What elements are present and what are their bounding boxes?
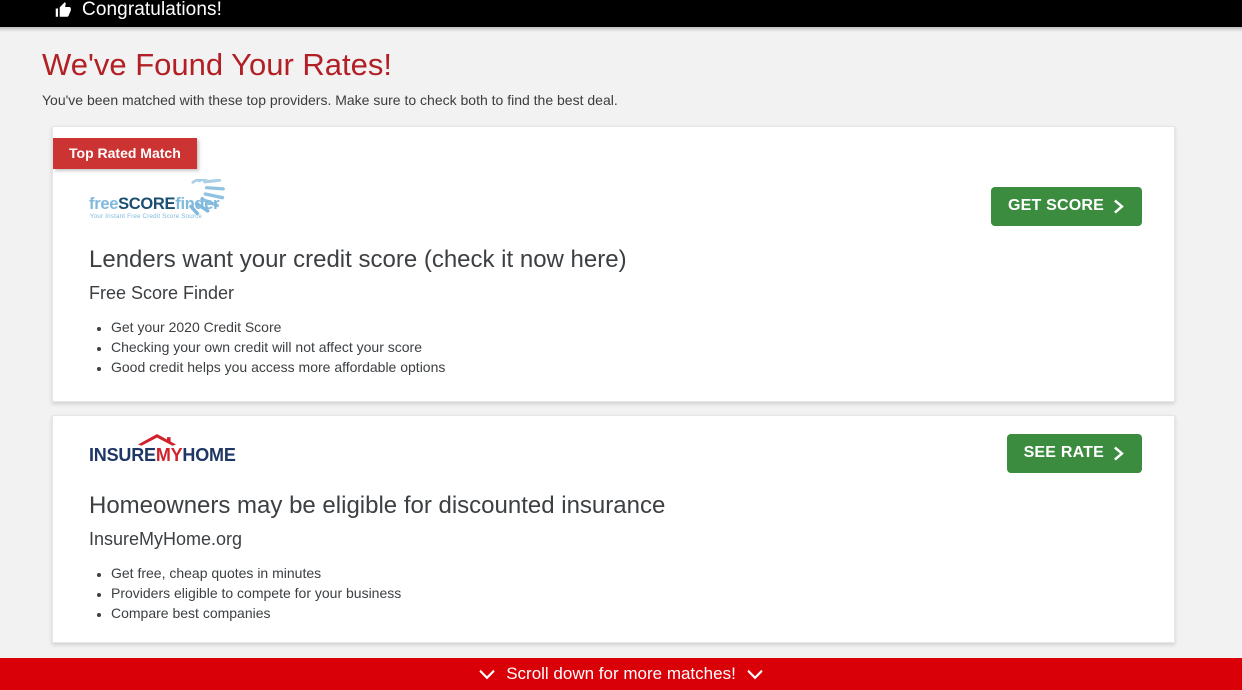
thumbs-up-icon: [55, 1, 73, 19]
logo-part-score: SCORE: [118, 195, 175, 213]
list-item: Checking your own credit will not affect…: [111, 337, 1138, 357]
list-item: Get free, cheap quotes in minutes: [111, 563, 1138, 583]
chevron-down-icon: [747, 669, 763, 680]
get-score-button[interactable]: GET SCORE: [991, 187, 1142, 226]
advertiser-logo: INSUREMYHOME: [89, 434, 224, 466]
insuremyhome-logo: INSUREMYHOME: [89, 434, 224, 466]
offer-brand: InsureMyHome.org: [89, 527, 1138, 551]
logo-part-finder: finder: [175, 195, 219, 213]
congratulations-bar: Congratulations!: [0, 0, 1242, 27]
list-item: Providers eligible to compete for your b…: [111, 583, 1138, 603]
offer-card-body: Homeowners may be eligible for discounte…: [53, 491, 1174, 623]
freescorefinder-wordmark: freeSCOREfinder: [89, 195, 219, 213]
chevron-right-icon: [1113, 199, 1126, 214]
offer-brand: Free Score Finder: [89, 281, 1138, 305]
logo-part-insure: INSURE: [89, 445, 156, 465]
offer-headline[interactable]: Homeowners may be eligible for discounte…: [89, 491, 1138, 521]
see-rate-button-label: SEE RATE: [1024, 444, 1104, 462]
list-item: Get your 2020 Credit Score: [111, 317, 1138, 337]
logo-part-my: MY: [156, 445, 183, 465]
scroll-down-label: Scroll down for more matches!: [506, 664, 736, 684]
offer-bullet-list: Get your 2020 Credit Score Checking your…: [89, 317, 1138, 377]
offer-card-body: Lenders want your credit score (check it…: [53, 245, 1174, 377]
topbar-shadow: [0, 27, 1242, 32]
get-score-button-label: GET SCORE: [1008, 197, 1104, 215]
scroll-down-bar[interactable]: Scroll down for more matches!: [0, 658, 1242, 690]
congratulations-label: Congratulations!: [82, 0, 222, 21]
congratulations-bar-inner: Congratulations!: [55, 0, 222, 21]
offer-card[interactable]: INSUREMYHOME SEE RATE Homeowners may be …: [52, 415, 1175, 643]
offer-card-header: INSUREMYHOME SEE RATE: [53, 416, 1174, 473]
freescorefinder-logo: freeSCOREfinder Your Instant Free Credit…: [89, 187, 219, 223]
freescorefinder-tagline: Your Instant Free Credit Score Source: [90, 213, 202, 221]
advertiser-logo: freeSCOREfinder Your Instant Free Credit…: [89, 187, 219, 223]
page-subtitle: You've been matched with these top provi…: [42, 91, 618, 109]
offer-headline[interactable]: Lenders want your credit score (check it…: [89, 245, 1138, 275]
offer-card-header: freeSCOREfinder Your Instant Free Credit…: [53, 127, 1174, 226]
page-root: Congratulations! We've Found Your Rates!…: [0, 0, 1242, 690]
chevron-right-icon: [1113, 446, 1126, 461]
offer-card[interactable]: Top Rated Match: [52, 126, 1175, 402]
logo-part-free: free: [89, 195, 118, 213]
logo-part-home: HOME: [182, 445, 235, 465]
list-item: Compare best companies: [111, 603, 1138, 623]
page-title: We've Found Your Rates!: [42, 46, 392, 84]
see-rate-button[interactable]: SEE RATE: [1007, 434, 1142, 473]
offer-bullet-list: Get free, cheap quotes in minutes Provid…: [89, 563, 1138, 623]
insuremyhome-wordmark: INSUREMYHOME: [89, 445, 236, 465]
chevron-down-icon: [479, 669, 495, 680]
list-item: Good credit helps you access more afford…: [111, 357, 1138, 377]
